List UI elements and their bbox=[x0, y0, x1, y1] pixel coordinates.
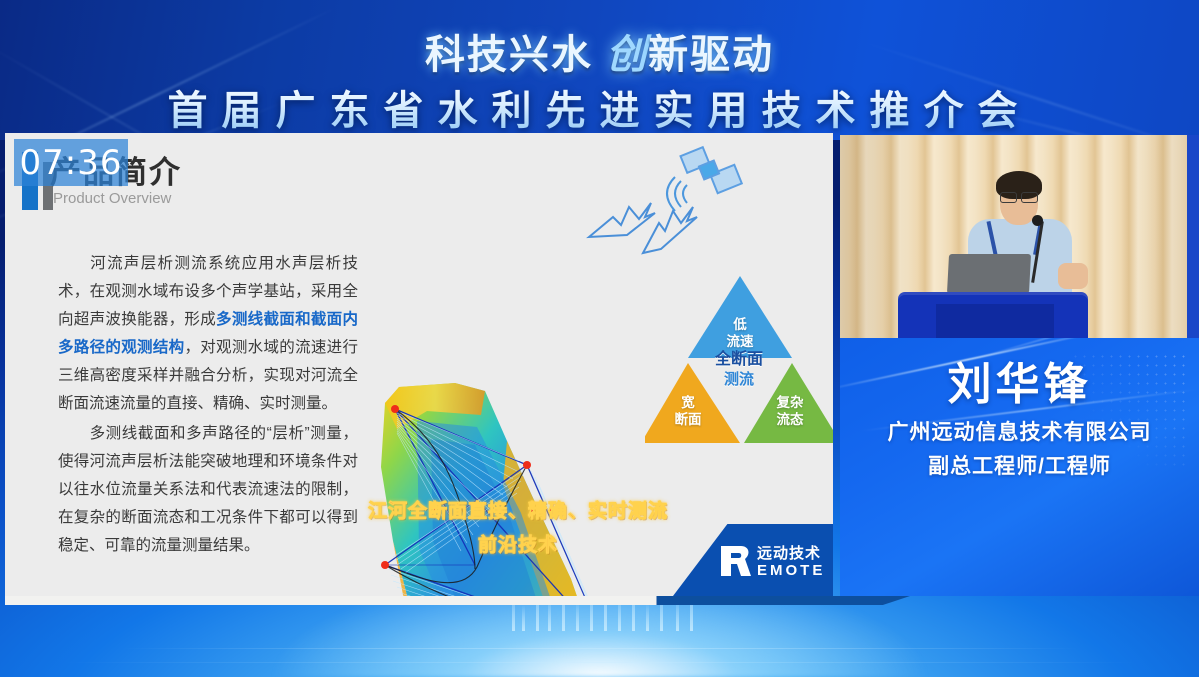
floor-line bbox=[60, 662, 1140, 663]
screen: 科技兴水 创新驱动 首届广东省水利先进实用技术推介会 产品简介 Product … bbox=[0, 0, 1199, 677]
triangle-center-label: 全断面 测流 bbox=[683, 350, 795, 390]
company-logo: 远动技术 EMOTE bbox=[673, 524, 833, 596]
tagline-part2: 新驱动 bbox=[648, 33, 774, 77]
logo-mark-icon bbox=[719, 544, 753, 578]
triangle-left-line2: 断面 bbox=[657, 411, 719, 428]
logo-text-cn: 远动技术 bbox=[757, 542, 821, 563]
tagline-accent: 创 bbox=[606, 33, 648, 77]
city-bar bbox=[646, 603, 649, 631]
floor-line bbox=[120, 648, 1080, 649]
laptop bbox=[947, 254, 1031, 294]
city-bar bbox=[576, 601, 579, 631]
triangle-diagram: 低 流速 宽 断面 复杂 流态 全断面 测流 bbox=[645, 272, 833, 447]
video-right-edge bbox=[1187, 135, 1199, 338]
triangle-left-label: 宽 断面 bbox=[657, 394, 719, 428]
podium-front bbox=[936, 304, 1054, 338]
triangle-top-label: 低 流速 bbox=[708, 316, 772, 350]
triangle-right-line1: 复杂 bbox=[759, 394, 821, 411]
triangle-left-line1: 宽 bbox=[657, 394, 719, 411]
city-bar bbox=[522, 605, 525, 631]
speaker-role: 副总工程师/工程师 bbox=[840, 450, 1199, 480]
triangle-center-line1: 全断面 bbox=[683, 350, 795, 370]
slide-paragraph-2: 多测线截面和多声路径的“层析”测量，使得河流声层析法能突破地理和环境条件对以往水… bbox=[58, 420, 358, 560]
slide-paragraph-1: 河流声层析测流系统应用水声层析技术，在观测水域布设多个声学基站，采用全向超声波换… bbox=[58, 250, 358, 418]
page-title: 首届广东省水利先进实用技术推介会 bbox=[0, 78, 1199, 136]
speaker-name-card: 刘华锋 广州远动信息技术有限公司 副总工程师/工程师 bbox=[840, 338, 1199, 596]
tagline-part1: 科技兴水 bbox=[425, 33, 593, 77]
paragraph2-text: 多测线截面和多声路径的“层析”测量，使得河流声层析法能突破地理和环境条件对以往水… bbox=[58, 425, 358, 554]
satellite-icon bbox=[583, 145, 743, 255]
triangle-top-line2: 流速 bbox=[708, 333, 772, 350]
triangle-right-line2: 流态 bbox=[759, 411, 821, 428]
microphone-head bbox=[1032, 215, 1043, 226]
slide-title-en: Product Overview bbox=[53, 190, 171, 207]
speaker-organization: 广州远动信息技术有限公司 bbox=[840, 416, 1199, 446]
glasses-icon bbox=[1000, 192, 1038, 201]
logo-text-en: EMOTE bbox=[757, 562, 825, 579]
slide-bottom-strip bbox=[5, 596, 910, 605]
speaker-name: 刘华锋 bbox=[840, 348, 1199, 412]
speaker-hand bbox=[1058, 263, 1088, 289]
presentation-slide: 产品简介 Product Overview 河流声层析测流系统应用水声层析技术，… bbox=[5, 133, 833, 596]
countdown-timer[interactable]: 07:36 bbox=[14, 139, 128, 186]
river-bathymetry-visualization bbox=[357, 381, 647, 596]
timer-value: 07:36 bbox=[20, 143, 123, 183]
speaker-video-feed[interactable] bbox=[840, 135, 1199, 338]
slide-caption-line2: 前沿技术 bbox=[348, 530, 688, 557]
speaker-panel: 刘华锋 广州远动信息技术有限公司 副总工程师/工程师 bbox=[840, 133, 1199, 596]
triangle-top-line1: 低 bbox=[708, 316, 772, 333]
slide-caption-line1: 江河全断面直接、精确、实时测流 bbox=[348, 496, 688, 523]
header-tagline: 科技兴水 创新驱动 bbox=[0, 22, 1199, 80]
triangle-right-label: 复杂 流态 bbox=[759, 394, 821, 428]
triangle-center-line2: 测流 bbox=[683, 370, 795, 390]
